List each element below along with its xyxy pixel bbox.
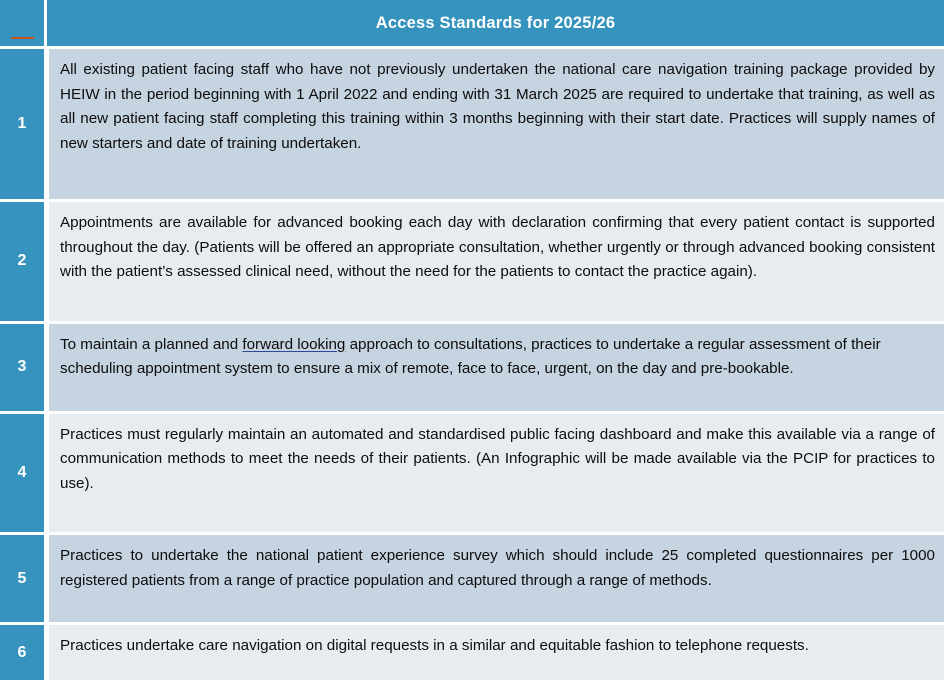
table-row: 1All existing patient facing staff who h… bbox=[0, 49, 944, 202]
row-number-cell: 1 bbox=[0, 49, 47, 202]
row-number-cell: 2 bbox=[0, 202, 47, 324]
orange-marker-icon bbox=[11, 37, 34, 39]
standard-text-cell: Appointments are available for advanced … bbox=[47, 202, 944, 324]
standard-text: Practices undertake care navigation on d… bbox=[60, 637, 809, 654]
row-number-label: 2 bbox=[18, 252, 27, 269]
standard-text: All existing patient facing staff who ha… bbox=[60, 61, 935, 152]
table-row: 4Practices must regularly maintain an au… bbox=[0, 414, 944, 536]
table-row: 6Practices undertake care navigation on … bbox=[0, 625, 944, 680]
standard-text: Practices to undertake the national pati… bbox=[60, 547, 935, 589]
header-number-column bbox=[0, 0, 47, 49]
page-title: Access Standards for 2025/26 bbox=[47, 0, 944, 49]
standard-text-cell: Practices undertake care navigation on d… bbox=[47, 625, 944, 680]
table-row: 3To maintain a planned and forward looki… bbox=[0, 324, 944, 414]
table-row: 2Appointments are available for advanced… bbox=[0, 202, 944, 324]
underlined-phrase: forward looking bbox=[242, 336, 345, 353]
row-number-cell: 5 bbox=[0, 535, 47, 625]
standard-text-cell: All existing patient facing staff who ha… bbox=[47, 49, 944, 202]
row-number-label: 6 bbox=[18, 644, 27, 661]
table-header-row: Access Standards for 2025/26 bbox=[0, 0, 944, 49]
standard-text-cell: Practices to undertake the national pati… bbox=[47, 535, 944, 625]
standard-text-cell: Practices must regularly maintain an aut… bbox=[47, 414, 944, 536]
standard-text: Practices must regularly maintain an aut… bbox=[60, 426, 935, 492]
row-number-cell: 3 bbox=[0, 324, 47, 414]
row-number-cell: 4 bbox=[0, 414, 47, 536]
row-number-label: 3 bbox=[18, 358, 27, 375]
row-number-cell: 6 bbox=[0, 625, 47, 680]
row-number-label: 5 bbox=[18, 570, 27, 587]
row-number-label: 1 bbox=[18, 115, 27, 132]
table-row: 5Practices to undertake the national pat… bbox=[0, 535, 944, 625]
standard-text-cell: To maintain a planned and forward lookin… bbox=[47, 324, 944, 414]
access-standards-table: Access Standards for 2025/26 1All existi… bbox=[0, 0, 944, 680]
row-number-label: 4 bbox=[18, 464, 27, 481]
standard-text-part-before: To maintain a planned and bbox=[60, 336, 242, 353]
table-body: Access Standards for 2025/26 1All existi… bbox=[0, 0, 944, 680]
standard-text: Appointments are available for advanced … bbox=[60, 214, 935, 280]
